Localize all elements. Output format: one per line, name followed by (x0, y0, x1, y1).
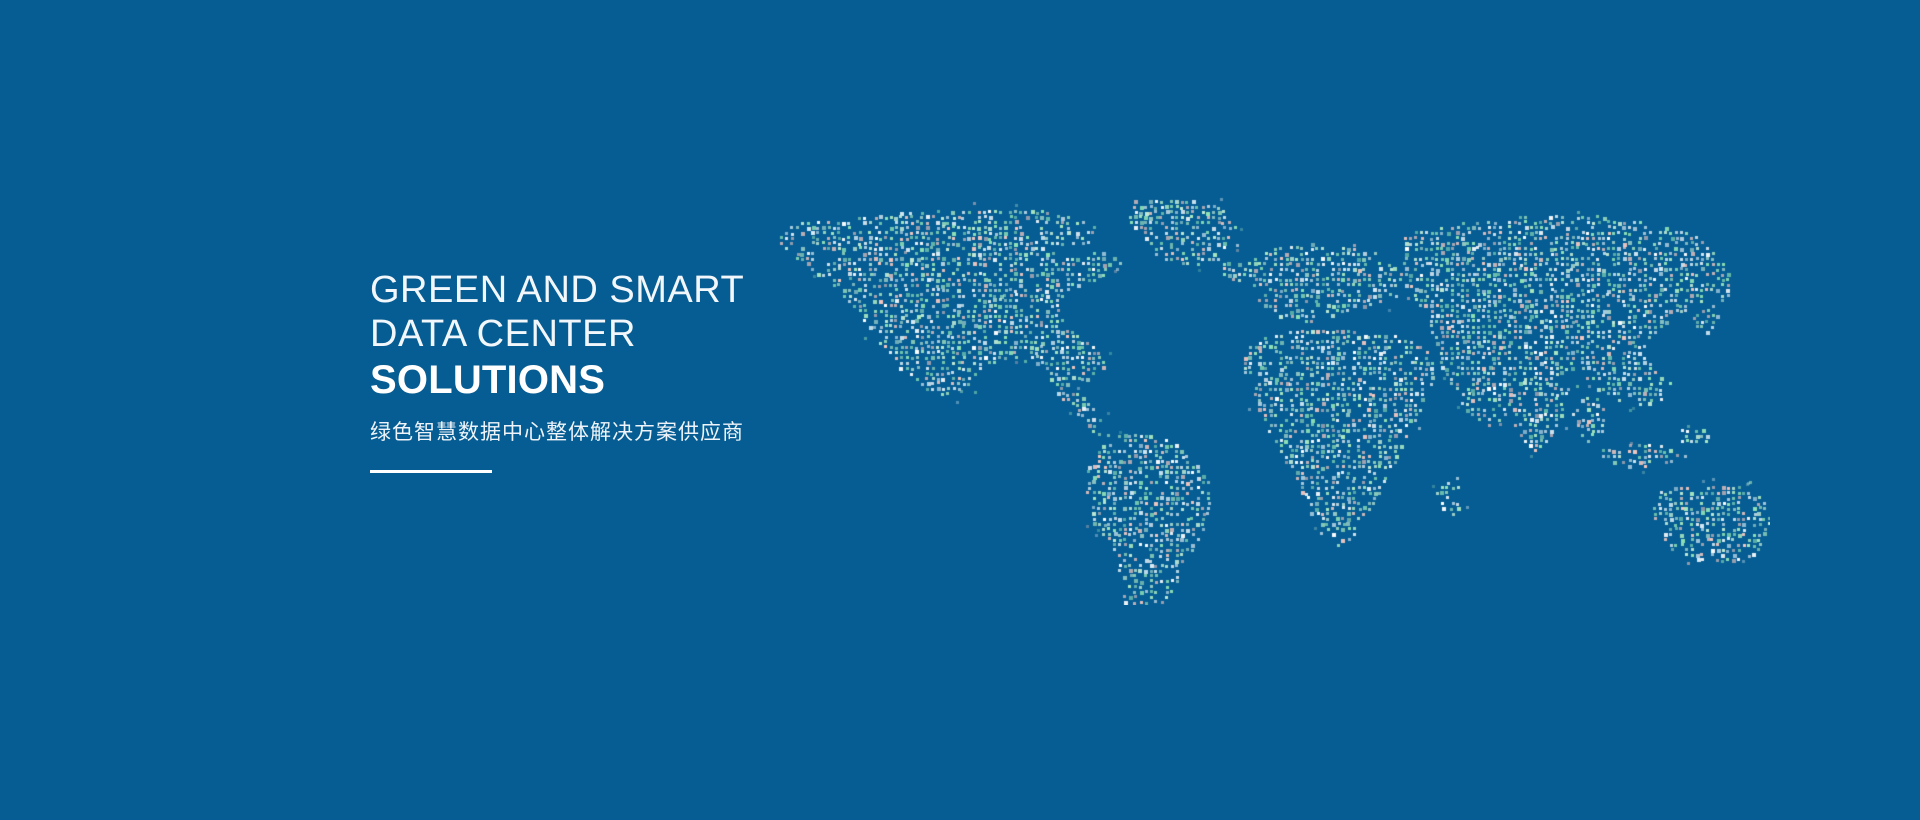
headline-line-3: SOLUTIONS (370, 356, 990, 404)
hero-banner: GREEN AND SMART DATA CENTER SOLUTIONS 绿色… (0, 0, 1920, 820)
headline-line-2: DATA CENTER (370, 312, 990, 356)
hero-text-block: GREEN AND SMART DATA CENTER SOLUTIONS 绿色… (370, 268, 990, 473)
hero-subtitle: 绿色智慧数据中心整体解决方案供应商 (370, 418, 990, 446)
hero-divider (370, 470, 492, 473)
headline-line-1: GREEN AND SMART (370, 268, 990, 312)
